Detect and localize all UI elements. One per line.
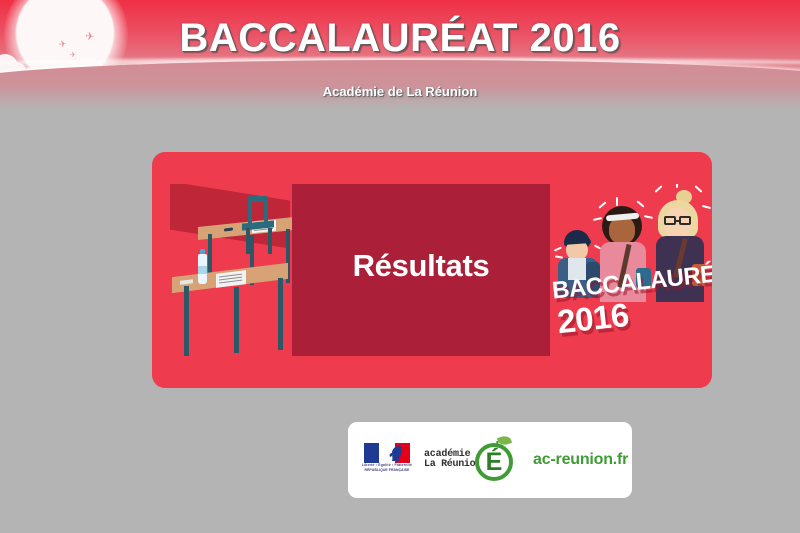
- bacc-line2: 2016: [556, 296, 631, 341]
- republic-motto: Liberté • Égalité • Fraternité: [360, 463, 414, 467]
- resultats-label: Résultats: [292, 248, 550, 284]
- website-link[interactable]: ac-reunion.fr: [533, 451, 628, 469]
- marianne-icon: [388, 445, 404, 462]
- classroom-desks-icon: [170, 184, 300, 356]
- desk-leg: [234, 287, 239, 353]
- desk-leg: [278, 278, 283, 350]
- academie-e-emblem-icon: É: [471, 437, 517, 483]
- french-flag-icon: [364, 443, 410, 463]
- republic-country: RÉPUBLIQUE FRANÇAISE: [360, 468, 414, 472]
- water-bottle-icon: [198, 254, 207, 284]
- desk-near: [172, 270, 288, 356]
- card-illustration: Résultats BACCALA: [170, 184, 712, 356]
- exam-paper-icon: [216, 270, 246, 288]
- results-card[interactable]: Résultats BACCALA: [152, 152, 712, 388]
- bacc-banner-text: BACCALAURÉAT 2016: [548, 251, 712, 355]
- page-subtitle: Académie de La Réunion: [0, 84, 800, 99]
- footer-logo-box[interactable]: Liberté • Égalité • Fraternité RÉPUBLIQU…: [348, 422, 632, 498]
- chair-icon: [244, 196, 270, 236]
- republique-francaise-logo: Liberté • Égalité • Fraternité RÉPUBLIQU…: [360, 443, 414, 477]
- desk-leg: [184, 286, 189, 356]
- emblem-letter: É: [475, 443, 513, 481]
- page-title: BACCALAURÉAT 2016: [0, 16, 800, 61]
- resultats-panel[interactable]: Résultats: [292, 184, 550, 356]
